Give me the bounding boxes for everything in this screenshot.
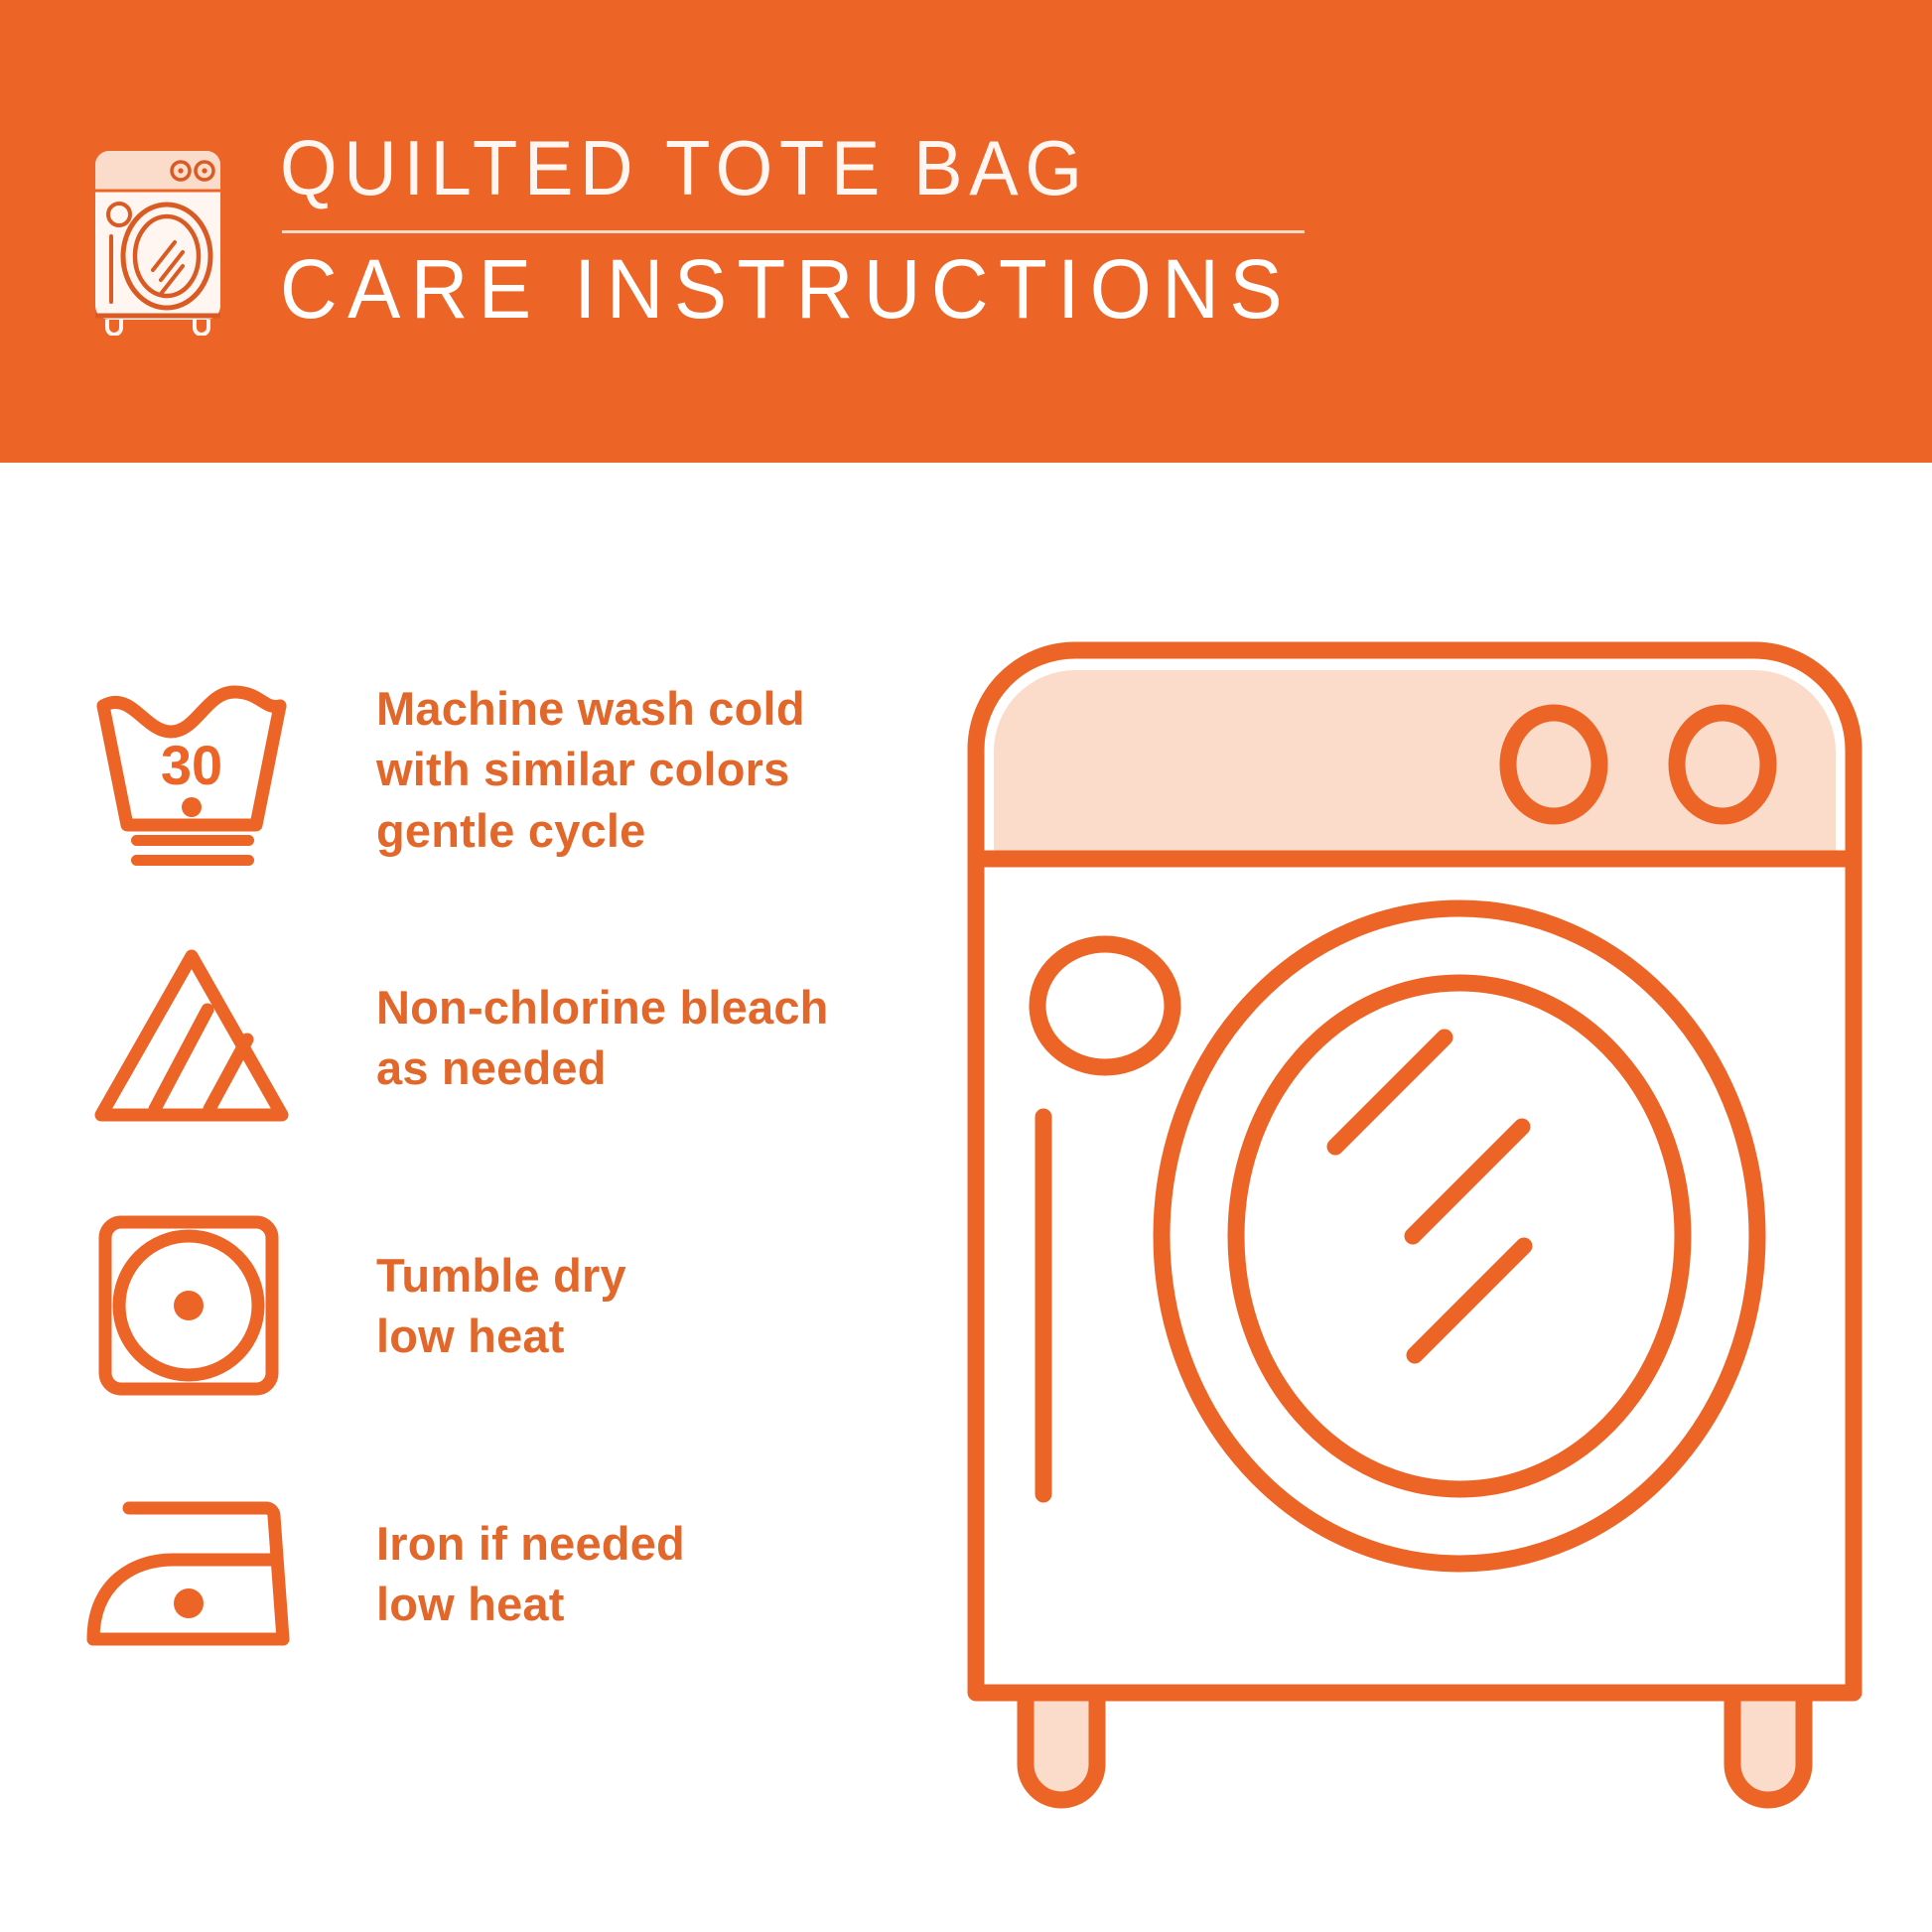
control-knob xyxy=(1508,713,1599,816)
care-text-machine-wash: Machine wash cold with similar colors ge… xyxy=(376,678,805,860)
page-title: QUILTED TOTE BAG xyxy=(280,129,1089,212)
title-divider xyxy=(282,230,1305,233)
care-row-iron: Iron if needed low heat xyxy=(0,1440,993,1708)
machine-leg xyxy=(1026,1693,1097,1800)
care-text-tumble-dry: Tumble dry low heat xyxy=(376,1245,626,1366)
care-text-iron: Iron if needed low heat xyxy=(376,1513,685,1634)
iron-low-heat-icon xyxy=(85,1474,299,1673)
care-row-tumble-dry: Tumble dry low heat xyxy=(0,1172,993,1440)
care-row-bleach: Non-chlorine bleach as needed xyxy=(0,903,993,1172)
care-instruction-list: 30 Machine wash cold with similar colors… xyxy=(0,635,993,1708)
machine-leg xyxy=(1732,1693,1804,1800)
wash-tub-30-gentle-icon: 30 xyxy=(85,670,299,869)
washing-machine-illustration xyxy=(948,621,1871,1871)
wash-temperature-value: 30 xyxy=(161,734,222,796)
non-chlorine-bleach-triangle-icon xyxy=(85,938,299,1137)
header-title-group: QUILTED TOTE BAG CARE INSTRUCTIONS xyxy=(280,129,1346,331)
control-knob xyxy=(1677,713,1768,816)
tumble-dry-low-heat-icon xyxy=(85,1206,299,1405)
washing-machine-icon xyxy=(81,139,248,336)
header-band: QUILTED TOTE BAG CARE INSTRUCTIONS xyxy=(0,0,1932,463)
header-content: QUILTED TOTE BAG CARE INSTRUCTIONS xyxy=(81,129,1346,336)
care-row-machine-wash: 30 Machine wash cold with similar colors… xyxy=(0,635,993,903)
page-subtitle: CARE INSTRUCTIONS xyxy=(280,247,1293,331)
care-text-bleach: Non-chlorine bleach as needed xyxy=(376,977,829,1098)
